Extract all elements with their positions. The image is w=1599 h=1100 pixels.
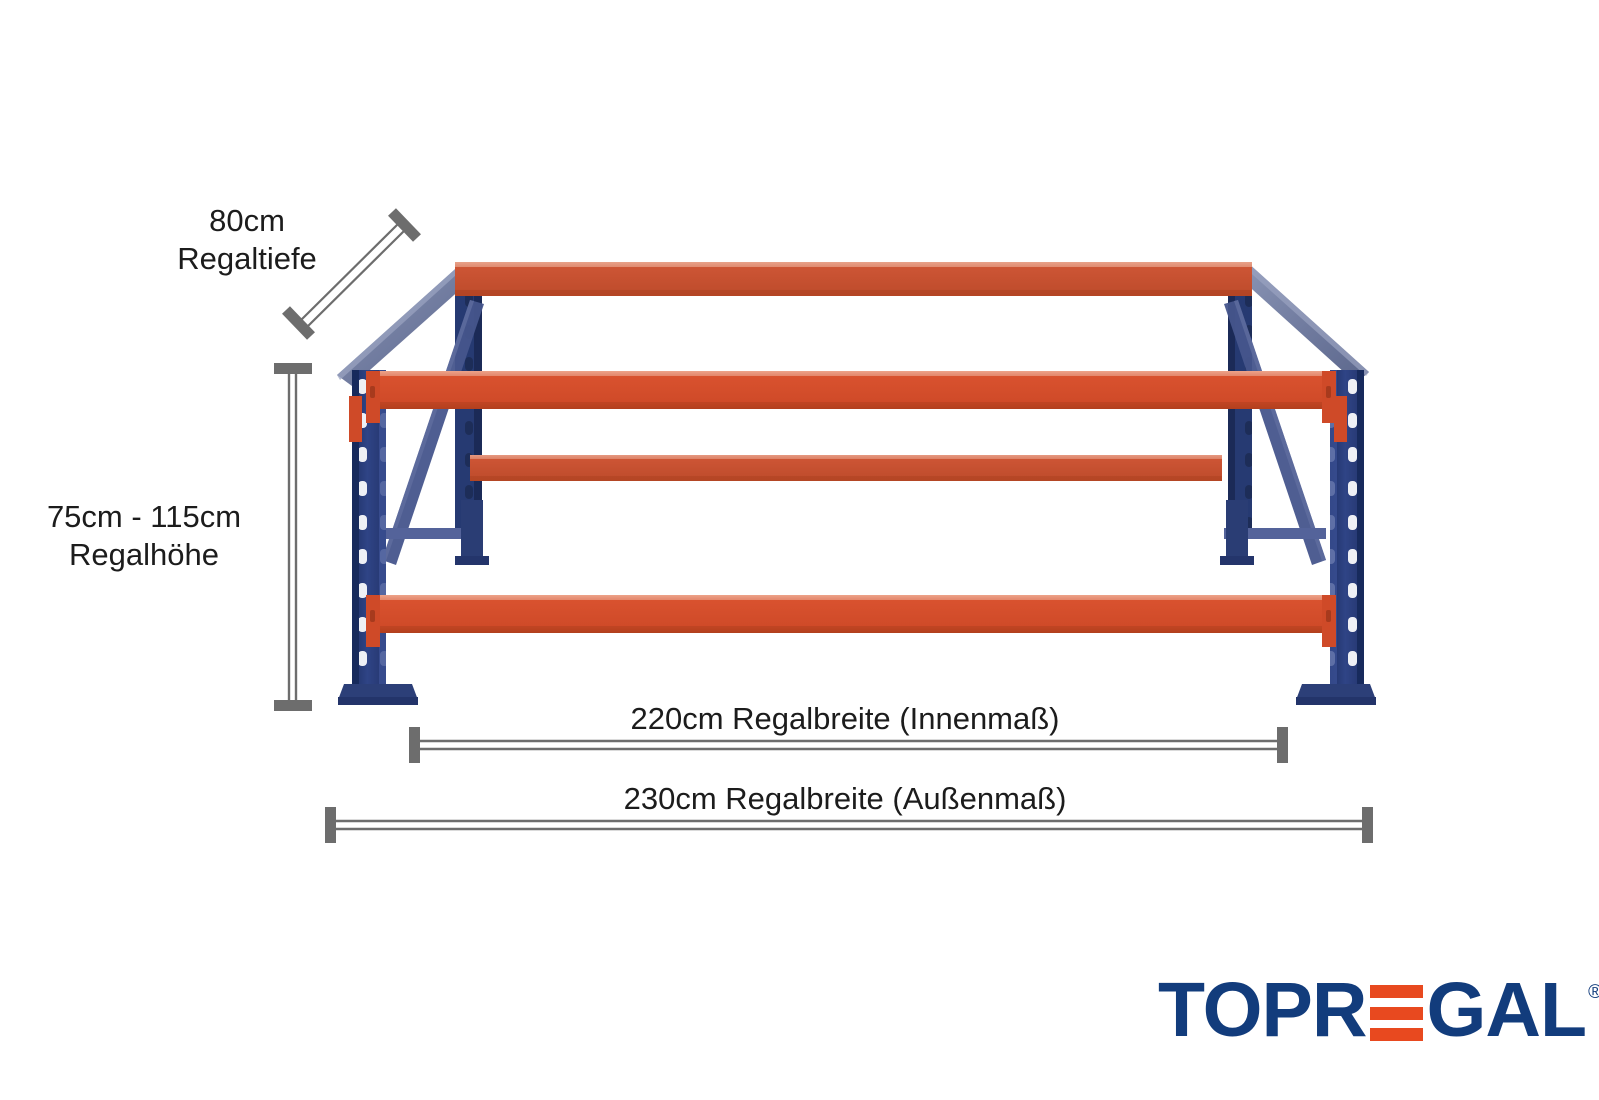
depth-caption: Regaltiefe [172, 240, 322, 278]
logo-text-part2: GAL [1427, 975, 1587, 1045]
logo-e-icon [1370, 985, 1423, 1041]
depth-dimension-label: 80cm Regaltiefe [172, 202, 322, 278]
front-upper-beam [366, 371, 1336, 423]
rear-middle-beam [470, 455, 1222, 481]
diagram-canvas: 80cm Regaltiefe 75cm - 115cm Regalhöhe 2… [0, 0, 1599, 1100]
left-beam-connector [349, 396, 362, 442]
topregal-logo: TOPR GAL ® [1158, 975, 1599, 1045]
logo-text-part1: TOPR [1158, 975, 1367, 1045]
height-value: 75cm - 115cm [20, 498, 268, 536]
right-beam-connector [1334, 396, 1347, 442]
height-dimension-line [274, 363, 312, 711]
height-caption: Regalhöhe [20, 536, 268, 574]
height-dimension-label: 75cm - 115cm Regalhöhe [20, 498, 268, 574]
inner-width-dimension-label: 220cm Regalbreite (Innenmaß) [555, 700, 1135, 738]
front-lower-beam [366, 595, 1336, 647]
outer-width-dimension-label: 230cm Regalbreite (Außenmaß) [555, 780, 1135, 818]
depth-value: 80cm [172, 202, 322, 240]
rear-top-beam [455, 262, 1252, 296]
registered-trademark-symbol: ® [1588, 983, 1599, 1002]
